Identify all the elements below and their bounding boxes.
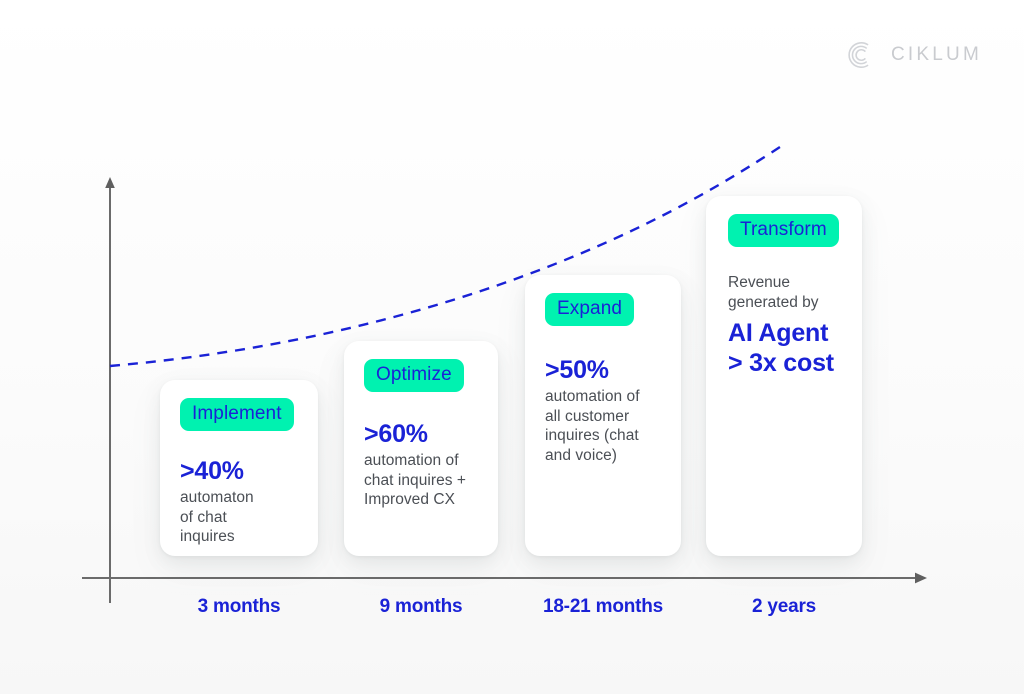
stage-badge-transform: Transform [728,214,839,247]
stage-desc-optimize: automation of chat inquires + Improved C… [364,451,484,510]
stage-card-transform[interactable]: Transform Revenue generated by AI Agent … [706,196,862,556]
stage-stat-optimize: >60% [364,421,484,447]
stage-card-header: Implement [180,398,302,431]
stage-card-body: Revenue generated by AI Agent > 3x cost [728,273,848,378]
stage-badge-expand: Expand [545,293,634,326]
stage-desc-implement: automaton of chat inquires [180,488,304,547]
infographic-canvas: CIKLUM Implement >40% automaton of chat … [0,0,1024,694]
stage-desc-expand: automation of all customer inquires (cha… [545,387,667,465]
stage-card-expand[interactable]: Expand >50% automation of all customer i… [525,275,681,556]
stage-card-implement[interactable]: Implement >40% automaton of chat inquire… [160,380,318,556]
x-axis-label-18-21-months: 18-21 months [513,596,693,618]
x-axis-label-9-months: 9 months [344,596,498,618]
x-axis-label-2-years: 2 years [706,596,862,618]
stage-lead-transform: Revenue generated by [728,273,848,312]
stage-card-body: >40% automaton of chat inquires [180,458,304,547]
stage-card-header: Transform [728,214,846,247]
stage-card-header: Expand [545,293,665,326]
x-axis-label-3-months: 3 months [160,596,318,618]
stage-stat-expand: >50% [545,357,667,383]
stage-card-optimize[interactable]: Optimize >60% automation of chat inquire… [344,341,498,556]
stage-card-header: Optimize [364,359,482,392]
stage-stat-implement: >40% [180,458,304,484]
trendline-path [110,143,786,366]
growth-trendline [0,0,1024,694]
stage-badge-implement: Implement [180,398,294,431]
stage-card-body: >50% automation of all customer inquires… [545,357,667,465]
stage-stat-transform-line2: > 3x cost [728,348,848,378]
stage-stat-transform-line1: AI Agent [728,318,848,348]
stage-badge-optimize: Optimize [364,359,464,392]
stage-card-body: >60% automation of chat inquires + Impro… [364,421,484,510]
